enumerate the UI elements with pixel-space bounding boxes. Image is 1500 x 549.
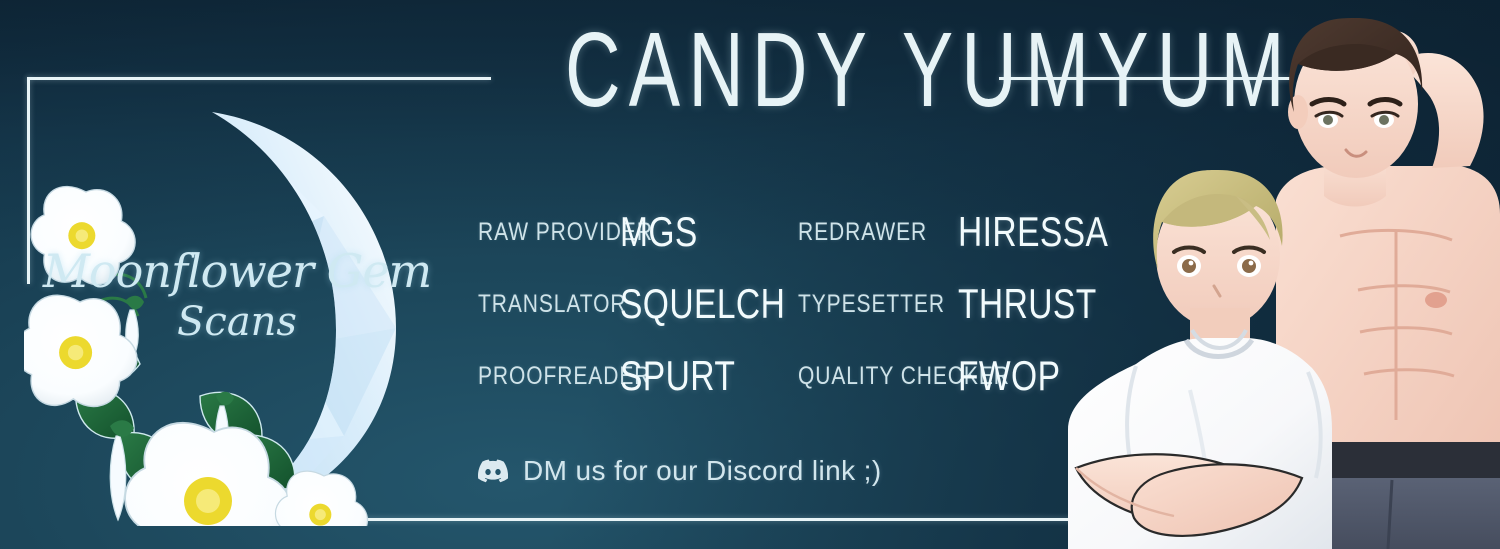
page-title: CANDY YUMYUM — [565, 14, 935, 126]
credit-label-translator: TRANSLATOR — [478, 290, 597, 319]
moonflower-top — [31, 186, 135, 284]
discord-invite-text: DM us for our Discord link ;) — [523, 455, 882, 487]
character-artwork — [1040, 0, 1500, 549]
moonflower-gem-scans-logo: Moonflower Gem Scans — [24, 96, 444, 526]
credit-label-raw-provider: RAW PROVIDER — [478, 218, 597, 247]
moonflower-left — [24, 295, 137, 406]
credits-banner: CANDY YUMYUM — [0, 0, 1500, 549]
credit-label-quality-checker: QUALITY CHECKER — [798, 362, 932, 391]
credit-value-translator: SQUELCH — [620, 280, 762, 328]
frame-rule-top-left — [27, 77, 491, 80]
credit-value-proofreader: SPURT — [620, 352, 762, 400]
discord-icon — [478, 456, 508, 486]
credit-value-raw-provider: MGS — [620, 208, 762, 256]
discord-invite[interactable]: DM us for our Discord link ;) — [478, 455, 882, 487]
credit-label-typesetter: TYPESETTER — [798, 290, 932, 319]
credit-label-proofreader: PROOFREADER — [478, 362, 597, 391]
credit-label-redrawer: REDRAWER — [798, 218, 932, 247]
